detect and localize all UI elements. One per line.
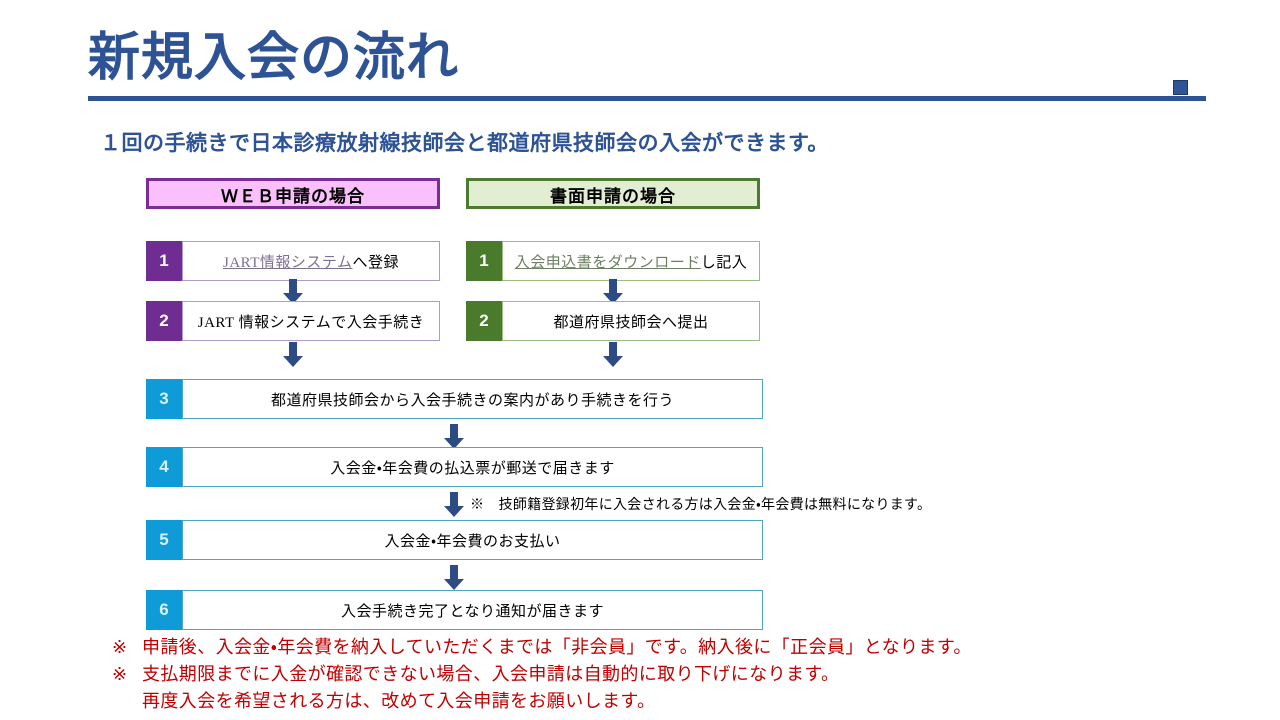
arrow-web-2-to-3-icon [282, 342, 304, 368]
common-step-3-box: 都道府県技師会から入会手続きの案内があり手続きを行う [182, 379, 763, 419]
red-note-line-3: 再度入会を希望される方は、改めて入会申請をお願いします。 [112, 688, 972, 715]
web-step-2-badge: 2 [146, 301, 182, 341]
red-note-text-3: 再度入会を希望される方は、改めて入会申請をお願いします。 [142, 691, 655, 711]
paper-step-2-badge: 2 [466, 301, 502, 341]
flow-diagram: ＷＥＢ申請の場合 書面申請の場合 1 JART情報システムへ登録 1 入会申込書… [0, 0, 1280, 720]
free-fee-note: ※ 技師籍登録初年に入会される方は入会金・年会費は無料になります。 [470, 494, 931, 514]
paper-step-1-badge: 1 [466, 241, 502, 281]
web-step-1-box: JART情報システムへ登録 [182, 241, 440, 281]
common-step-6-box: 入会手続き完了となり通知が届きます [182, 590, 763, 630]
arrow-paper-2-to-3-icon [602, 342, 624, 368]
common-step-5-badge: 5 [146, 520, 182, 560]
common-step-4-box: 入会金・年会費の払込票が郵送で届きます [182, 447, 763, 487]
red-note-line-2: ※支払期限までに入金が確認できない場合、入会申請は自動的に取り下げになります。 [112, 661, 972, 688]
common-step-4-badge: 4 [146, 447, 182, 487]
common-step-3-badge: 3 [146, 379, 182, 419]
web-step-1-badge: 1 [146, 241, 182, 281]
red-notes-block: ※申請後、入会金・年会費を納入していただくまでは「非会員」です。納入後に「正会員… [112, 634, 972, 715]
column-header-paper: 書面申請の場合 [466, 178, 760, 209]
paper-step-1-row: 1 入会申込書をダウンロードし記入 [466, 241, 760, 281]
red-note-text-1: 申請後、入会金・年会費を納入していただくまでは「非会員」です。納入後に「正会員」… [142, 637, 972, 657]
common-step-4-row: 4 入会金・年会費の払込票が郵送で届きます [146, 447, 763, 487]
web-step-1-row: 1 JART情報システムへ登録 [146, 241, 440, 281]
note-mark-2: ※ [112, 661, 142, 688]
common-step-6-badge: 6 [146, 590, 182, 630]
web-step-2-box: JART 情報システムで入会手続き [182, 301, 440, 341]
arrow-4-to-5-icon [443, 492, 465, 518]
jart-system-link[interactable]: JART情報システム [223, 251, 353, 272]
paper-step-1-rest: し記入 [701, 251, 748, 272]
red-note-line-1: ※申請後、入会金・年会費を納入していただくまでは「非会員」です。納入後に「正会員… [112, 634, 972, 661]
column-header-web: ＷＥＢ申請の場合 [146, 178, 440, 209]
paper-step-2-box: 都道府県技師会へ提出 [502, 301, 760, 341]
common-step-5-row: 5 入会金・年会費のお支払い [146, 520, 763, 560]
paper-step-2-row: 2 都道府県技師会へ提出 [466, 301, 760, 341]
common-step-6-row: 6 入会手続き完了となり通知が届きます [146, 590, 763, 630]
arrow-5-to-6-icon [443, 565, 465, 591]
application-form-download-link[interactable]: 入会申込書をダウンロード [515, 251, 701, 272]
common-step-3-row: 3 都道府県技師会から入会手続きの案内があり手続きを行う [146, 379, 763, 419]
web-step-2-row: 2 JART 情報システムで入会手続き [146, 301, 440, 341]
paper-step-1-box: 入会申込書をダウンロードし記入 [502, 241, 760, 281]
red-note-text-2: 支払期限までに入金が確認できない場合、入会申請は自動的に取り下げになります。 [142, 664, 839, 684]
note-mark-1: ※ [112, 634, 142, 661]
web-step-1-rest: へ登録 [352, 251, 399, 272]
common-step-5-box: 入会金・年会費のお支払い [182, 520, 763, 560]
